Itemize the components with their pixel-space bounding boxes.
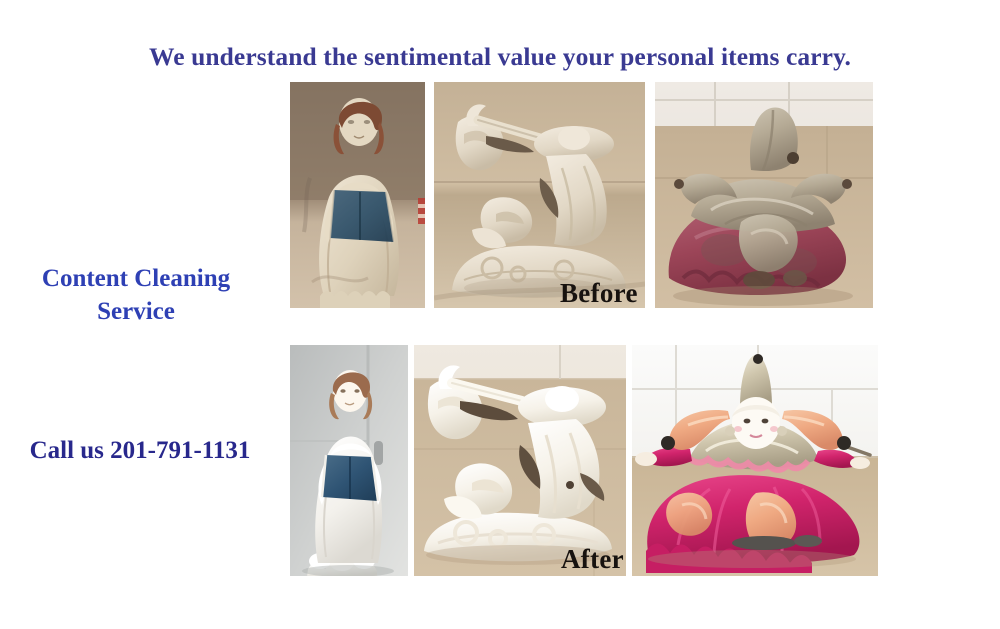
photo-after-lady-art	[290, 345, 408, 576]
photo-after-jester-art	[632, 345, 878, 576]
brand-title-line1: Content Cleaning	[42, 265, 230, 292]
stage-label-before: Before	[560, 278, 638, 309]
brand-title: Content Cleaning Service	[0, 262, 272, 328]
photo-before-statue-art	[434, 82, 645, 308]
photo-before-lady-art	[290, 82, 425, 308]
page-headline: We understand the sentimental value your…	[0, 42, 1000, 72]
photo-after-jester	[632, 345, 878, 576]
stage-label-after: After	[561, 544, 624, 575]
photo-before-jester-art	[655, 82, 873, 308]
photo-before-lady	[290, 82, 425, 308]
photo-after-statue-art	[414, 345, 626, 576]
photo-after-statue	[414, 345, 626, 576]
photo-after-lady	[290, 345, 408, 576]
photo-before-jester	[655, 82, 873, 308]
brand-title-line2: Service	[0, 295, 272, 328]
contact-phone[interactable]: Call us 201-791-1131	[0, 437, 280, 465]
photo-before-statue	[434, 82, 645, 308]
